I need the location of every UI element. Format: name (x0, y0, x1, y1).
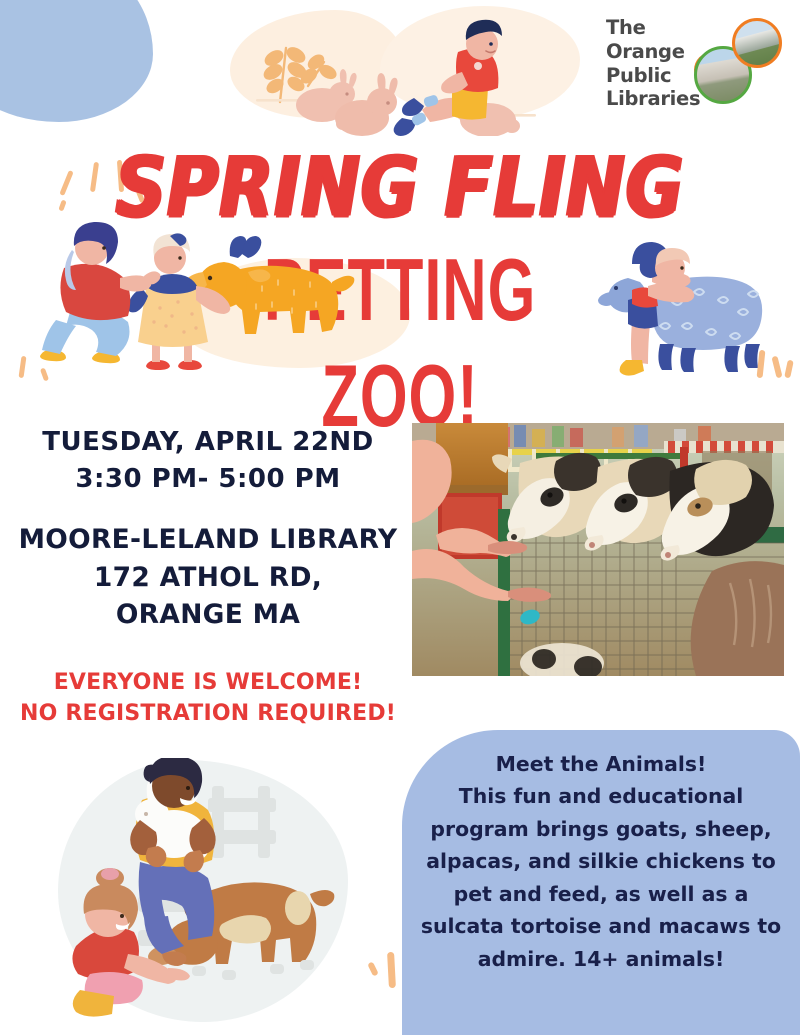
decorative-tick (117, 160, 124, 192)
notice-no-registration: NO REGISTRATION REQUIRED! (12, 699, 404, 730)
info-heading: Meet the Animals! (410, 748, 792, 780)
event-address-line2: ORANGE MA (12, 596, 404, 634)
event-time: 3:30 PM- 5:00 PM (12, 461, 404, 498)
event-address-line1: 172 ATHOL RD, (12, 559, 404, 597)
decorative-blue-blob (0, 0, 153, 122)
event-date: TUESDAY, APRIL 22ND (12, 424, 404, 461)
info-body: This fun and educational program brings … (410, 780, 792, 975)
boy-with-rabbits-illustration (246, 14, 546, 136)
petting-zoo-photo (412, 423, 784, 676)
library-branch-photo-badge (732, 18, 782, 68)
info-box-text: Meet the Animals! This fun and education… (402, 748, 800, 975)
decorative-tick (136, 190, 146, 204)
decorative-tick (58, 199, 66, 211)
woman-and-child-petting-goat-illustration (34, 216, 364, 376)
decorative-tick (59, 170, 73, 196)
notice-everyone-welcome: EVERYONE IS WELCOME! (12, 668, 404, 699)
event-details: TUESDAY, APRIL 22ND 3:30 PM- 5:00 PM MOO… (12, 424, 404, 634)
woman-with-rabbit-and-girl-with-goat-illustration (62, 758, 362, 1030)
library-logo: The Orange Public Libraries (606, 14, 784, 112)
event-venue: MOORE-LELAND LIBRARY (12, 521, 404, 559)
boy-hugging-sheep-illustration (598, 238, 798, 388)
decorative-tick (367, 961, 379, 976)
flyer-page: SPRING FLING PETTING ZOO! (0, 0, 800, 1035)
notices: EVERYONE IS WELCOME! NO REGISTRATION REQ… (12, 668, 404, 730)
decorative-tick (18, 356, 26, 378)
decorative-tick (90, 162, 99, 192)
decorative-tick (387, 952, 396, 988)
